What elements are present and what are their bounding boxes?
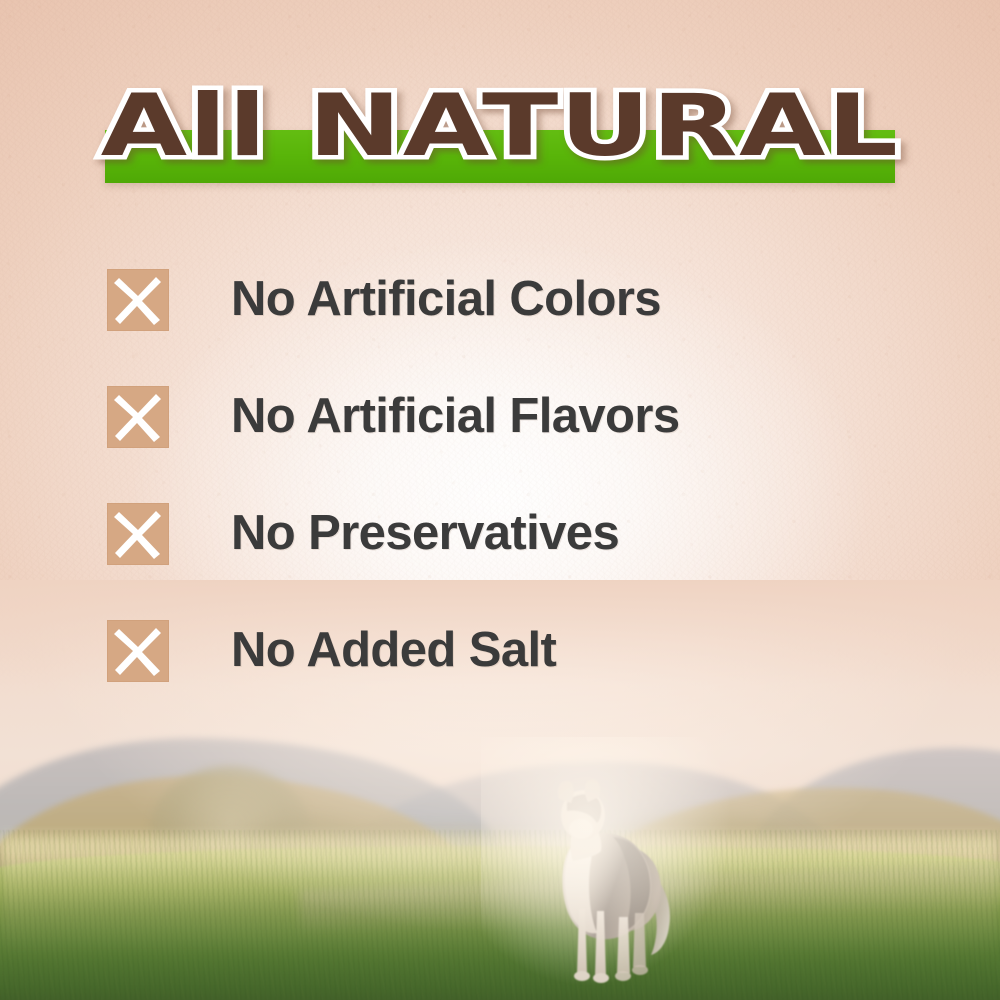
list-item: No Added Salt xyxy=(107,619,927,682)
foreground-shadow xyxy=(0,856,1000,1000)
list-item-label: No Artificial Flavors xyxy=(231,392,679,441)
list-item: No Preservatives xyxy=(107,502,927,565)
list-item-label: No Artificial Colors xyxy=(231,275,661,324)
page-title: All NATURAL xyxy=(0,76,1000,176)
x-mark-icon xyxy=(107,620,169,682)
feature-list: No Artificial Colors No Artificial Flavo… xyxy=(107,268,927,682)
list-item: No Artificial Colors xyxy=(107,268,927,331)
x-mark-icon xyxy=(107,503,169,565)
list-item: No Artificial Flavors xyxy=(107,385,927,448)
dog-photo xyxy=(527,777,687,992)
all-natural-product-poster: All NATURAL No Artificial Colors No Arti… xyxy=(0,0,1000,1000)
list-item-label: No Added Salt xyxy=(231,626,556,675)
x-mark-icon xyxy=(107,386,169,448)
list-item-label: No Preservatives xyxy=(231,509,619,558)
x-mark-icon xyxy=(107,269,169,331)
